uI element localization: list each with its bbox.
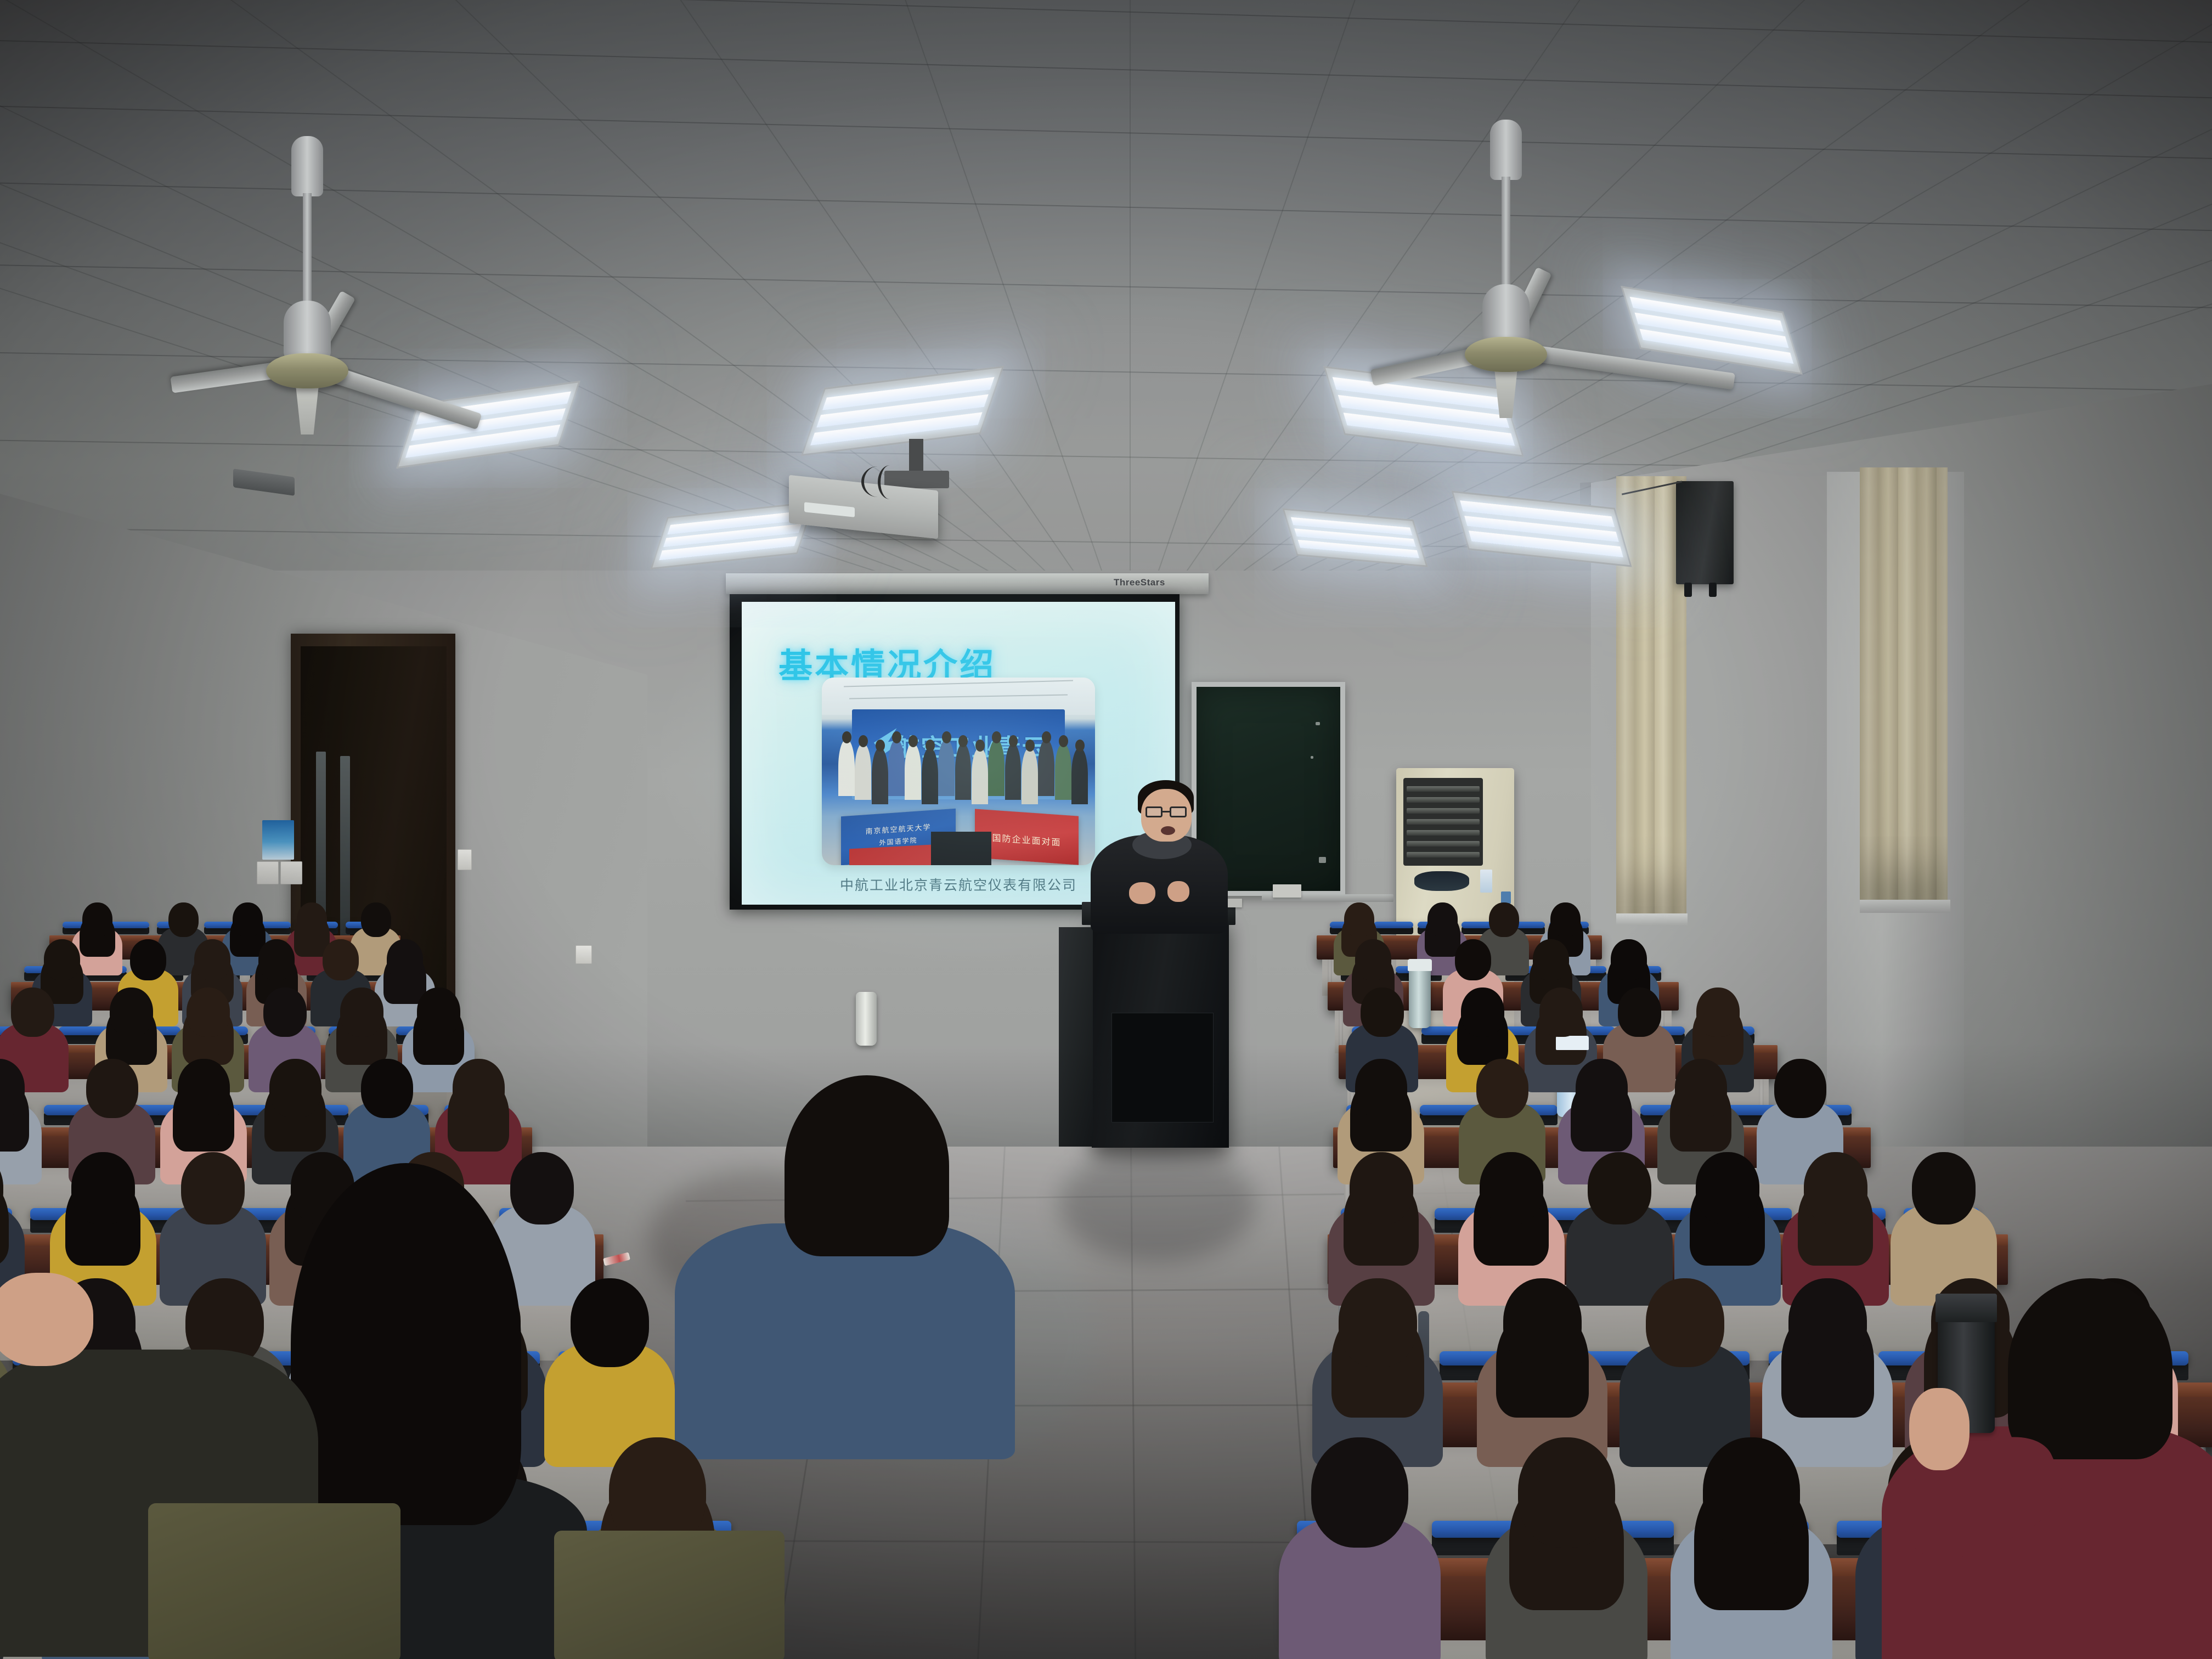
audience-head — [1646, 1278, 1724, 1367]
classroom-photo: ThreeStars 基本情况介绍 航空工业青云 南京航空航天大学 外国语学院 … — [0, 0, 2212, 1659]
slide-photo-person-head — [1025, 740, 1035, 752]
audience-head — [1480, 1152, 1543, 1224]
audience-head — [71, 1152, 135, 1224]
water-bottle-cap — [1936, 1294, 1997, 1322]
audience-head — [1804, 1152, 1867, 1224]
slide-photo-person — [972, 748, 988, 804]
audience-head — [1576, 1059, 1628, 1118]
slide-photo-podium — [931, 832, 991, 866]
audience-head — [258, 939, 295, 980]
audience-head — [323, 939, 359, 980]
ac-louvre — [1407, 786, 1480, 792]
audience-head — [110, 988, 153, 1037]
audience-head — [1703, 1437, 1800, 1548]
light-switch-plate-right[interactable] — [280, 861, 302, 884]
audience-head — [1539, 988, 1583, 1037]
fan-motor-housing — [284, 301, 331, 360]
audience-head — [1461, 988, 1504, 1037]
presenter-left-hand — [1129, 882, 1155, 904]
presenter-glasses-bridge — [1163, 811, 1170, 812]
thermos-bottle-silver — [1409, 967, 1431, 1028]
audience-head — [263, 988, 307, 1037]
air-conditioner-energy-label — [1480, 870, 1492, 893]
audience-head — [86, 1059, 138, 1118]
window-sill — [1616, 913, 1688, 926]
slide-photo-person — [955, 743, 972, 800]
slide-photo-person-head — [892, 731, 901, 743]
water-bottle-white-left — [856, 992, 877, 1046]
audience-head — [510, 1152, 574, 1224]
audience-head — [1518, 1437, 1615, 1548]
slide-photo-person — [922, 748, 938, 804]
audience-head — [417, 988, 460, 1037]
wall-outlet-mid[interactable] — [575, 945, 592, 964]
audience-head — [1355, 939, 1391, 980]
audience-head-maroon-hoodie — [2008, 1278, 2172, 1459]
fan-motor-housing — [1482, 284, 1530, 343]
audience-head — [1503, 1278, 1582, 1367]
slide-photo-person — [1005, 743, 1022, 800]
ac-louvre — [1407, 808, 1480, 814]
slide-photo-person — [1038, 740, 1054, 796]
ceiling-tile-line-h — [0, 181, 2212, 233]
presenter-glasses-left-lens — [1145, 806, 1163, 817]
window-curtain-right — [1860, 467, 1948, 901]
audience-head — [1533, 939, 1569, 980]
audience-hand-holding-bottle — [1909, 1388, 1970, 1470]
light-switch-plate-left[interactable] — [257, 861, 279, 884]
chair-seat — [1374, 922, 1413, 928]
slide-photo-person — [1055, 743, 1071, 800]
audience-head — [1696, 988, 1740, 1037]
presenter-mouth — [1161, 826, 1175, 835]
slide-photo-person — [888, 740, 905, 796]
air-conditioner-display-panel[interactable] — [1414, 871, 1469, 891]
audience-torso-denim — [675, 1223, 1015, 1459]
water-bottle-light-blue-cap — [1556, 1036, 1589, 1050]
chalk-mark-2 — [1311, 756, 1313, 759]
audience-head — [340, 988, 383, 1037]
audience-head — [1611, 939, 1647, 980]
air-conditioner-badge — [1501, 891, 1511, 904]
audience-head — [168, 902, 199, 937]
slide-photo-person-head — [1059, 735, 1068, 747]
fan-canopy — [1490, 120, 1522, 180]
audience-head — [1355, 1059, 1407, 1118]
audience-head — [187, 988, 230, 1037]
audience-head — [1912, 1152, 1976, 1224]
audience-head — [130, 939, 166, 980]
presenter-glasses-right-lens — [1170, 806, 1187, 817]
projector-mount-rod — [909, 439, 923, 475]
audience-hand-left-foreground — [0, 1273, 93, 1366]
window-sill-right — [1860, 900, 1950, 913]
slide-photo-person-head — [1075, 740, 1085, 752]
ceiling-tile-line-h — [0, 104, 2212, 161]
fan-hub-cap — [266, 353, 348, 388]
power-outlet-plate[interactable] — [458, 849, 472, 870]
ac-louvre — [1407, 830, 1480, 836]
audience-head — [1550, 902, 1581, 937]
audience-head — [571, 1278, 649, 1367]
audience-head — [1618, 988, 1661, 1037]
audience-head — [178, 1059, 230, 1118]
floor-reflection-podium — [1059, 1147, 1256, 1262]
audience-head — [233, 902, 263, 937]
screen-brand-label: ThreeStars — [1114, 577, 1165, 588]
chair-seat — [110, 922, 149, 928]
audience-head — [1675, 1059, 1727, 1118]
ac-louvre — [1407, 797, 1480, 803]
bag-olive-on-desk — [554, 1531, 785, 1659]
slide-photo-person-head — [942, 731, 951, 743]
slide-photo-person-head — [975, 740, 985, 752]
slide-photo-person — [872, 748, 888, 804]
audience-head — [269, 1059, 321, 1118]
slide-photo-person — [1022, 748, 1038, 804]
audience-head — [297, 902, 327, 937]
audience-head — [11, 988, 54, 1037]
projector-cable-2 — [878, 465, 902, 499]
presenter-right-hand — [1167, 881, 1189, 902]
slide-photo-person-head — [1042, 731, 1051, 743]
ac-louvre — [1407, 841, 1480, 847]
slide-photo-person-head — [876, 740, 885, 752]
slide-photo-person-head — [926, 740, 935, 752]
audience-head — [44, 939, 80, 980]
slide-photo-person — [938, 740, 955, 796]
audience-head — [387, 939, 423, 980]
audience-head — [1427, 902, 1458, 937]
lecture-podium-front-panel — [1111, 1013, 1214, 1122]
audience-head — [1455, 939, 1491, 980]
presenter — [1086, 774, 1245, 927]
audience-head — [453, 1059, 505, 1118]
slide-photo-person — [988, 740, 1005, 796]
chalk-mark-1 — [1316, 722, 1320, 725]
slide-photo-person-head — [992, 731, 1001, 743]
slide-photo-person — [838, 740, 855, 796]
slide-photo-person — [1071, 748, 1088, 804]
chalk-eraser[interactable] — [1273, 884, 1301, 898]
audience-head — [1476, 1059, 1528, 1118]
floor-tile-seam — [1130, 1147, 1140, 1659]
audience-head — [1361, 988, 1404, 1037]
audience-head — [1350, 1152, 1413, 1224]
chalk-piece — [1319, 857, 1326, 863]
audience-head — [1788, 1278, 1867, 1367]
door-notice-sign — [262, 820, 294, 860]
ceiling-tile-line-h — [0, 38, 2212, 100]
slide-photo-person-head — [842, 731, 851, 743]
ceiling-tile-line-h — [0, 263, 2212, 310]
audience-head — [361, 1059, 413, 1118]
speaker-bracket-right — [1709, 583, 1717, 597]
ac-louvre — [1407, 819, 1480, 825]
audience-head — [361, 902, 391, 937]
backpack-olive-foreground — [148, 1503, 400, 1659]
ceiling-tile-line-d — [894, 0, 1145, 647]
audience-head — [1489, 902, 1519, 937]
speaker-bracket-left — [1684, 583, 1692, 597]
audience-head — [1696, 1152, 1759, 1224]
fan-canopy — [291, 136, 323, 196]
slide-photo-person — [905, 743, 921, 800]
wall-speaker — [1676, 481, 1734, 584]
ceiling-tile-line-h — [0, 0, 2212, 45]
audience-head — [1344, 902, 1374, 937]
ceiling-tile-line-d — [1130, 0, 1131, 647]
audience-head — [82, 902, 112, 937]
audience-head-denim — [785, 1075, 949, 1256]
slide-embedded-photo: 航空工业青云 南京航空航天大学 外国语学院 国防企业面对面 — [822, 678, 1095, 865]
lecture-podium-side — [1059, 927, 1093, 1147]
audience-head — [1774, 1059, 1826, 1118]
audience-head — [181, 1152, 245, 1224]
air-conditioner-grille — [1403, 778, 1483, 866]
audience-head — [1339, 1278, 1417, 1367]
audience-head-foreground-left — [291, 1163, 521, 1525]
ac-louvre — [1407, 852, 1480, 857]
audience-head — [194, 939, 230, 980]
audience-head — [1311, 1437, 1408, 1548]
fan-hub-cap — [1465, 337, 1547, 372]
slide-photo-person — [855, 743, 871, 800]
audience-head — [1588, 1152, 1651, 1224]
thermos-bottle-cap — [1408, 959, 1432, 971]
